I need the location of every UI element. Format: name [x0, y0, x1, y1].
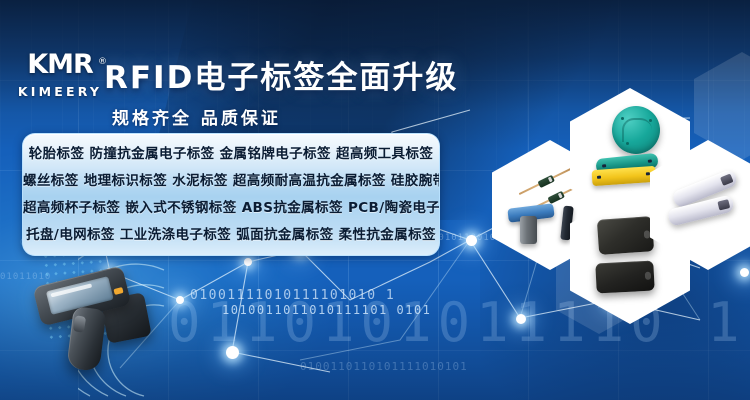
product-row: 超高频杯子标签 嵌入式不锈钢标签 ABS抗金属标签 PCB/陶瓷电子标签: [23, 195, 439, 222]
network-node: [516, 314, 526, 324]
product-row: 轮胎标签 防撞抗金属电子标签 金属铭牌电子标签 超高频工具标签: [23, 141, 439, 168]
product-list-rows: 轮胎标签 防撞抗金属电子标签 金属铭牌电子标签 超高频工具标签 螺丝标签 地理标…: [23, 134, 439, 249]
yellow-strip-tag: [592, 166, 657, 186]
anti-metal-tag-1: [597, 216, 654, 255]
screw-shaft: [520, 216, 537, 244]
brand-name: KIMEERY: [14, 84, 106, 99]
network-node: [466, 235, 477, 246]
banner-root: 0110101011110 1 01001111010111101010 1 1…: [0, 0, 750, 400]
anti-metal-tag-2: [595, 261, 654, 294]
brand-logo[interactable]: KMR ® KIMEERY: [14, 50, 106, 108]
banner-subtitle: 规格齐全 品质保证: [112, 104, 281, 129]
logo-mark-text: KMR: [27, 49, 93, 80]
reader-grip: [66, 306, 106, 372]
network-node: [740, 268, 749, 277]
logo-mark-icon: KMR ®: [14, 50, 106, 80]
disc-tag: [612, 106, 660, 154]
product-row: 螺丝标签 地理标识标签 水泥标签 超高频耐高温抗金属标签 硅胶腕带: [23, 168, 439, 195]
product-list-panel: 轮胎标签 防撞抗金属电子标签 金属铭牌电子标签 超高频工具标签 螺丝标签 地理标…: [22, 133, 440, 256]
handheld-rfid-reader[interactable]: [30, 272, 160, 380]
network-node: [244, 258, 252, 266]
banner-title: RFID电子标签全面升级: [104, 52, 458, 97]
product-row: 托盘/电网标签 工业洗涤电子标签 弧面抗金属标签 柔性抗金属标签: [23, 222, 439, 249]
